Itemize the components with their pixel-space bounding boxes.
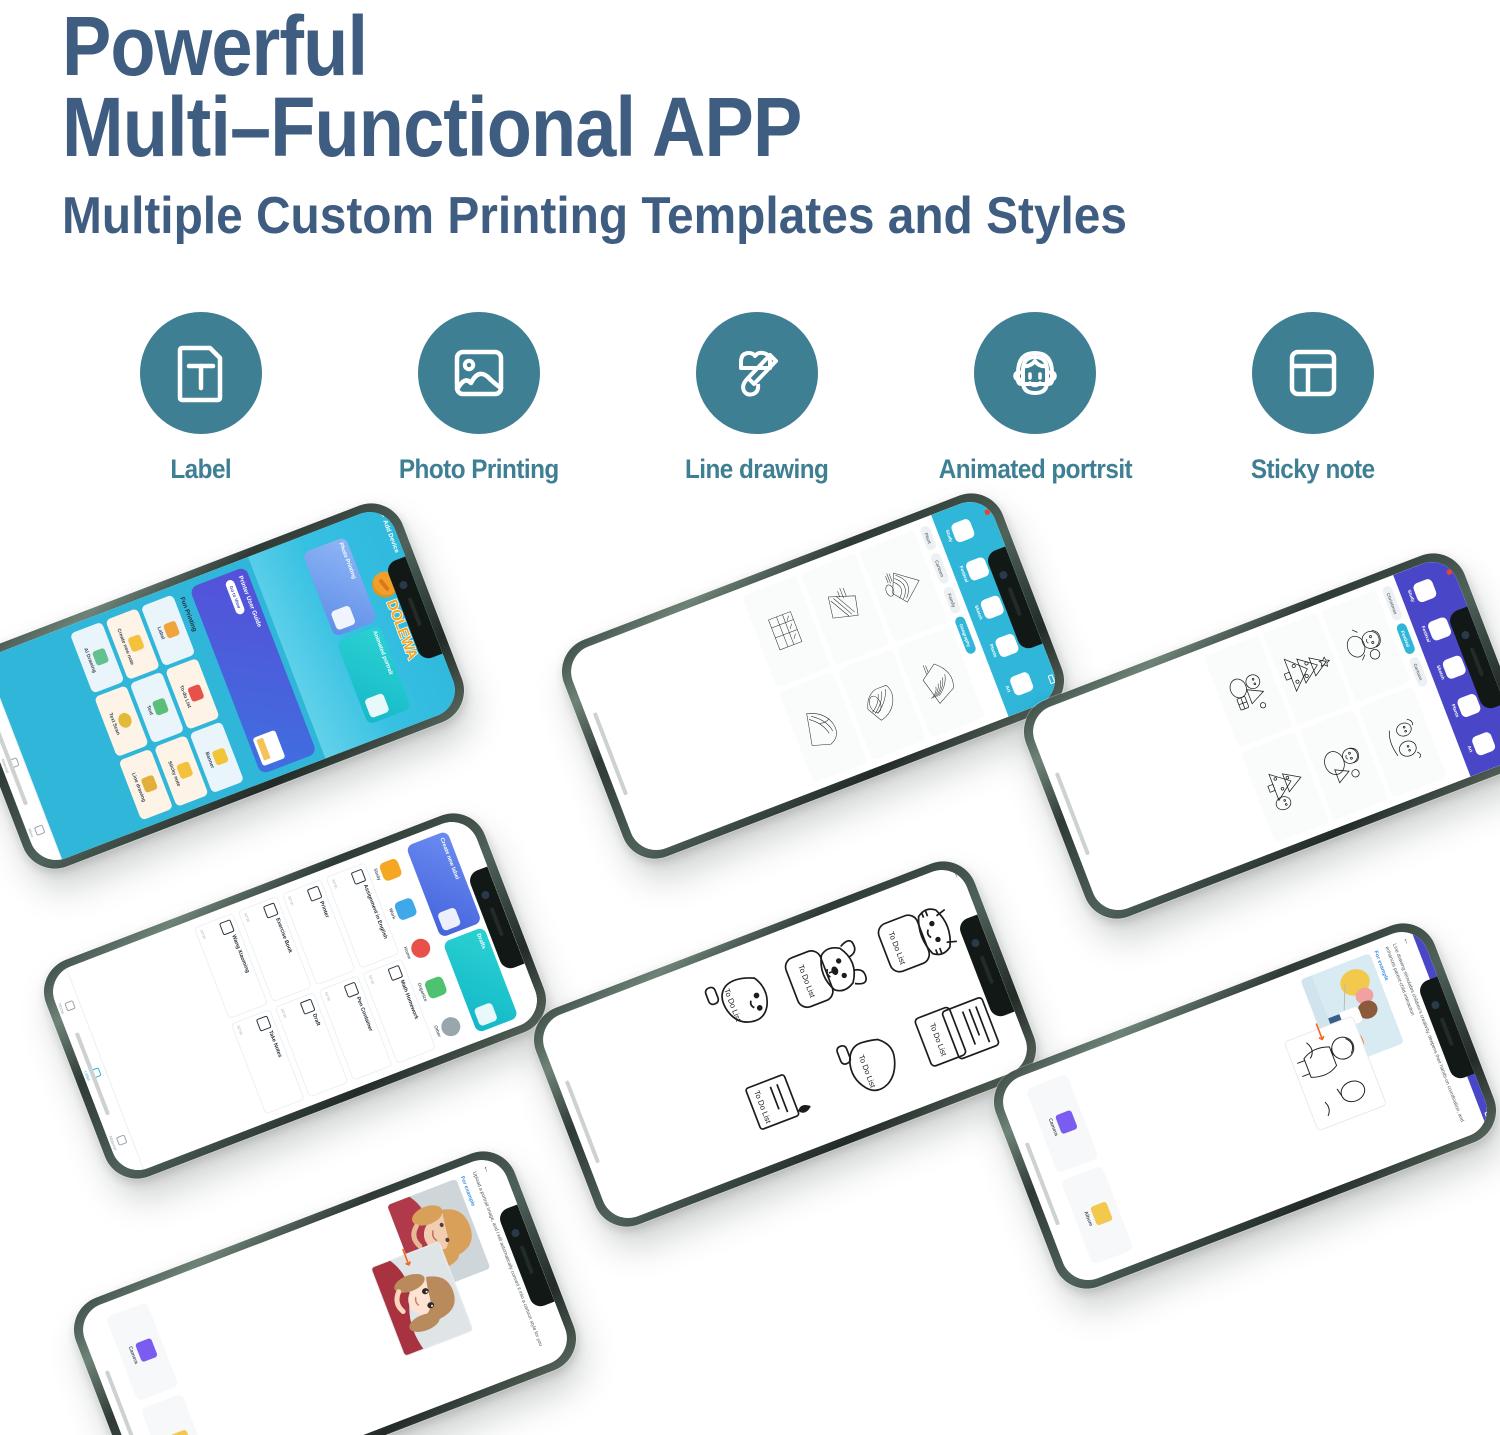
other-icon — [438, 1014, 463, 1039]
category-home[interactable]: Home — [399, 929, 435, 968]
album-icon — [170, 1429, 193, 1435]
line-drawing-screen-ui: ← Line drawing Line drawing stimulates c… — [995, 924, 1494, 1288]
art-icon — [1471, 731, 1497, 757]
feature-label-text: Line drawing — [685, 454, 828, 485]
tab-home[interactable]: Home — [45, 968, 91, 1044]
face-portrait-icon — [974, 312, 1096, 434]
material-icon — [116, 1134, 128, 1146]
template-preview-icon — [263, 902, 279, 918]
phone-screen: + Add Device DOLEWA Photo Printing — [0, 504, 463, 868]
category-study[interactable]: Study — [1403, 572, 1440, 612]
work-icon — [393, 896, 418, 921]
category-other[interactable]: Other — [430, 1008, 466, 1047]
printer-icon — [330, 604, 356, 630]
tab-home[interactable]: Home — [0, 658, 10, 734]
category-work[interactable]: Work — [384, 890, 420, 929]
home-icon — [65, 999, 77, 1011]
feature-label-text: Sticky note — [1251, 454, 1375, 485]
svg-text:To Do List: To Do List — [887, 930, 908, 966]
home-icon — [408, 936, 433, 961]
phone-animated-portrait: ← Animated portrait Upload a portrait im… — [64, 1141, 586, 1435]
material-screen-ui: Material Study Festival Sketch Plants Ar… — [563, 494, 1062, 858]
category-festival[interactable]: Festival — [956, 550, 993, 590]
template-size: 50*30 — [331, 879, 338, 889]
template-preview-icon — [387, 964, 403, 980]
printer-illustration-icon — [252, 730, 285, 767]
headline-line-2: Multi–Functional APP — [62, 87, 1294, 168]
category-label: Art — [1467, 745, 1474, 753]
category-study[interactable]: Study — [369, 851, 405, 890]
feature-photo-printing[interactable]: Photo Printing — [340, 312, 618, 522]
feature-icon-row: Label Photo Printing Line drawing — [62, 312, 1452, 522]
new-label-icon — [437, 906, 462, 931]
template-size: 50*30 — [243, 913, 250, 923]
feature-label[interactable]: Label — [62, 312, 340, 522]
phone-screen: ← Line drawing Line drawing stimulates c… — [995, 924, 1494, 1288]
camera-icon — [135, 1338, 158, 1363]
feature-label-text: Label — [171, 454, 232, 485]
svg-text:To Do List: To Do List — [796, 963, 817, 999]
phone-todo-list: ← ToDo List To Do List — [524, 851, 1046, 1236]
material-festival-screen-ui: Material Study Festival Sketch Plants Ar… — [1025, 554, 1500, 918]
template-size: 50*30 — [280, 1008, 287, 1018]
feature-label-text: Photo Printing — [399, 454, 559, 485]
camera-icon — [1055, 1110, 1078, 1135]
camera-button[interactable]: Camera — [1026, 1074, 1099, 1174]
phone-screen: Material Study Festival Sketch Plants Ar… — [563, 494, 1062, 858]
headline-line-1: Powerful — [62, 6, 1294, 87]
home-screen-ui: + Add Device DOLEWA Photo Printing — [0, 504, 463, 868]
art-icon — [1009, 671, 1035, 697]
template-preview-icon — [351, 869, 367, 885]
phone-screen: ← Animated portrait Upload a portrait im… — [75, 1152, 574, 1435]
svg-text:To Do List: To Do List — [928, 1021, 949, 1057]
face-icon — [364, 693, 390, 719]
phone-material-festival: Material Study Festival Sketch Plants Ar… — [1014, 543, 1500, 928]
phone-material-sketch: Material Study Festival Sketch Plants Ar… — [552, 483, 1074, 868]
headline-block: Powerful Multi–Functional APP Multiple C… — [62, 6, 1462, 244]
svg-text:To Do List: To Do List — [752, 1089, 773, 1125]
template-preview-icon — [256, 1015, 272, 1031]
paint-brush-icon — [696, 312, 818, 434]
category-art[interactable]: Art — [1000, 665, 1037, 705]
headline-subtitle: Multiple Custom Printing Templates and S… — [62, 189, 1350, 244]
sticky-note-layout-icon — [1252, 312, 1374, 434]
template-size: 50*30 — [199, 930, 206, 940]
bottom-tab-bar: Home Label Material — [45, 968, 144, 1178]
phone-line-drawing: ← Line drawing Line drawing stimulates c… — [984, 913, 1500, 1298]
photo-image-icon — [418, 312, 540, 434]
user-icon — [34, 824, 46, 836]
phone-mockup-stage: + Add Device DOLEWA Photo Printing — [0, 540, 1500, 1435]
source-buttons: Camera Album — [101, 1289, 219, 1435]
template-size: 50*30 — [236, 1025, 243, 1035]
label-screen-ui: Label Create new label Drafts — [45, 814, 544, 1178]
todo-screen-ui: ← ToDo List To Do List — [535, 862, 1034, 1226]
category-festival[interactable]: Festival — [1418, 610, 1455, 650]
template-preview-icon — [300, 998, 316, 1014]
template-preview-icon — [343, 981, 359, 997]
template-size: 50*30 — [287, 896, 294, 906]
phone-screen: ← ToDo List To Do List — [535, 862, 1034, 1226]
feature-animated-portrait[interactable]: Animated portrsit — [896, 312, 1174, 522]
feature-line-drawing[interactable]: Line drawing — [618, 312, 896, 522]
category-organize[interactable]: Organize — [414, 969, 450, 1008]
template-size: 50*30 — [324, 992, 331, 1002]
phone-screen: Label Create new label Drafts — [45, 814, 544, 1178]
album-button[interactable]: Album — [141, 1393, 214, 1435]
template-preview-icon — [307, 885, 323, 901]
drafts-icon — [473, 1002, 498, 1027]
phone-home: + Add Device DOLEWA Photo Printing — [0, 493, 474, 878]
feature-sticky-note[interactable]: Sticky note — [1174, 312, 1452, 522]
camera-button[interactable]: Camera — [106, 1302, 179, 1402]
tab-mine[interactable]: Mine — [12, 793, 61, 868]
animated-portrait-screen-ui: ← Animated portrait Upload a portrait im… — [75, 1152, 574, 1435]
label-tag-icon — [140, 312, 262, 434]
phone-screen: Material Study Festival Sketch Plants Ar… — [1025, 554, 1500, 918]
category-study[interactable]: Study — [941, 512, 978, 552]
feature-label-text: Animated portrsit — [938, 454, 1131, 485]
category-label: Art — [1005, 685, 1012, 693]
plus-icon: + — [379, 513, 387, 519]
album-button[interactable]: Album — [1061, 1165, 1134, 1265]
card-title: Create new label — [438, 837, 459, 880]
card-title: Drafts — [475, 933, 486, 950]
album-icon — [1090, 1201, 1113, 1226]
svg-text:To Do List: To Do List — [722, 987, 743, 1023]
product-feature-page: Powerful Multi–Functional APP Multiple C… — [0, 0, 1500, 1435]
template-preview-icon — [219, 919, 235, 935]
study-icon — [378, 857, 403, 882]
template-size: 50*30 — [368, 975, 375, 985]
tab-material[interactable]: Material — [94, 1103, 143, 1178]
phone-label: Label Create new label Drafts — [34, 803, 556, 1188]
category-art[interactable]: Art — [1462, 725, 1499, 765]
organize-icon — [423, 975, 448, 1000]
